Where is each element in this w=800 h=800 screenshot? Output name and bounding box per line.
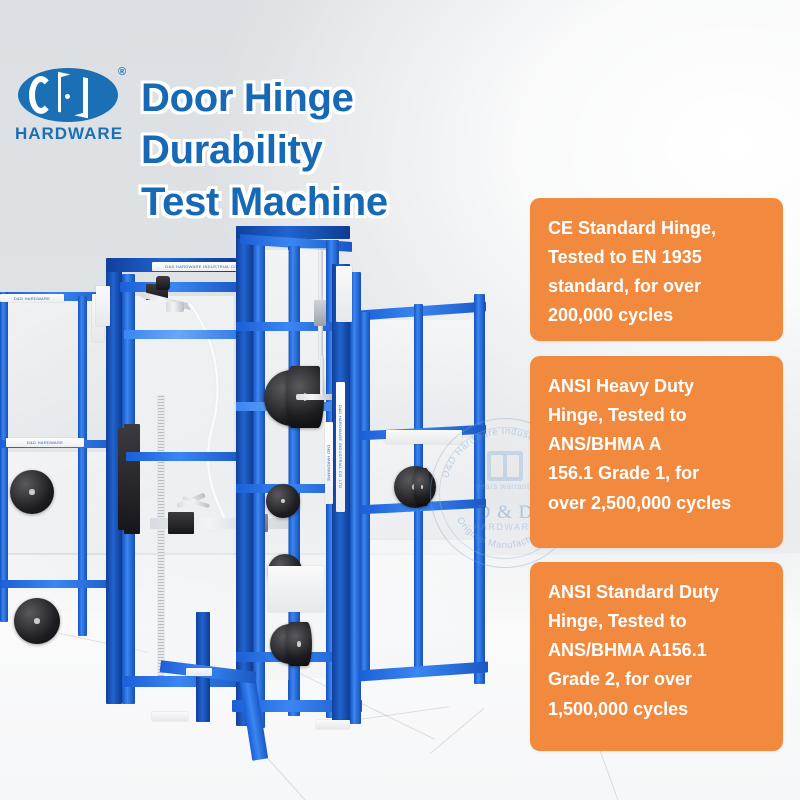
brand-logo: ® HARDWARE: [14, 66, 132, 148]
feature-card-line: ANSI Standard Duty: [548, 582, 719, 602]
feature-card-line: Hinge, Tested to: [548, 611, 687, 631]
feature-card-line: ANS/BHMA A: [548, 434, 662, 454]
feature-card-line: Grade 2, for over: [548, 669, 692, 689]
hinge-mount-plate: [386, 430, 462, 444]
page-title-line-1: Door Hinge Durability: [141, 72, 541, 176]
frame-label: D&D HARDWARE: [6, 438, 84, 447]
feature-card-line: over 2,500,000 cycles: [548, 493, 731, 513]
feature-card-line: CE Standard Hinge,: [548, 218, 716, 238]
weight-disc: [10, 470, 54, 514]
weight-disc: [14, 598, 60, 644]
frame-label: D&D HARDWARE INDUSTRIAL CO. LTD: [336, 382, 345, 512]
feature-card-line: 156.1 Grade 1, for: [548, 463, 699, 483]
frame-label: D&D HARDWARE: [325, 422, 333, 504]
registered-mark: ®: [118, 66, 126, 78]
page-title-line-2: Test Machine: [141, 176, 541, 228]
feature-card-ce-standard-hinge: CE Standard Hinge, Tested to EN 1935 sta…: [530, 198, 783, 341]
feature-card-line: Hinge, Tested to: [548, 405, 687, 425]
feature-card-ansi-standard-duty-hinge: ANSI Standard Duty Hinge, Tested to ANS/…: [530, 562, 783, 751]
page-title: Door Hinge Durability Test Machine: [141, 72, 541, 228]
feature-card-line: 1,500,000 cycles: [548, 699, 688, 719]
weight-disc: [266, 484, 300, 518]
dd-door-logo-icon: [18, 68, 118, 122]
feature-card-ansi-heavy-duty-hinge: ANSI Heavy Duty Hinge, Tested to ANS/BHM…: [530, 356, 783, 548]
feature-card-line: ANSI Heavy Duty: [548, 376, 694, 396]
brand-wordmark: HARDWARE: [14, 124, 124, 144]
frame-label: D&D HARDWARE: [0, 294, 64, 302]
feature-card-line: standard, for over: [548, 276, 701, 296]
feature-card-line: Tested to EN 1935: [548, 247, 702, 267]
feature-card-line: 200,000 cycles: [548, 305, 673, 325]
feature-card-line: ANS/BHMA A156.1: [548, 640, 707, 660]
poster-canvas: D&D HARDWARE D&D HARDWARE D&D HARDWARE I…: [0, 0, 800, 800]
